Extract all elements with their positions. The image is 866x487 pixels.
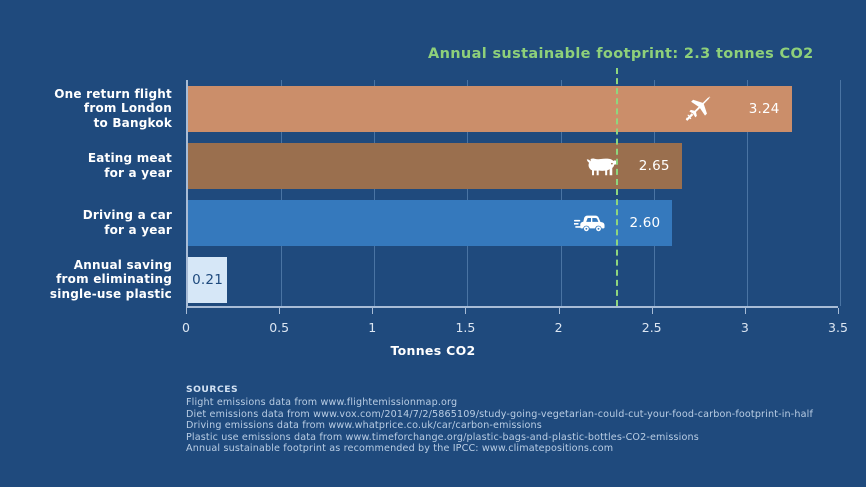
- x-axis-tick-label: 0: [182, 320, 190, 335]
- y-axis-category-label: Annual saving from eliminating single-us…: [50, 257, 172, 303]
- y-axis-category-label: Driving a car for a year: [83, 200, 172, 246]
- bar-value-label: 0.21: [188, 272, 227, 288]
- source-line: Annual sustainable footprint as recommen…: [186, 443, 813, 455]
- x-axis-tick: [279, 308, 280, 314]
- bar-value-label: 3.24: [749, 101, 780, 117]
- x-axis-tick: [186, 308, 187, 314]
- source-line: Plastic use emissions data from www.time…: [186, 432, 813, 444]
- x-axis-title: Tonnes CO2: [0, 343, 866, 358]
- bar-value-label: 2.65: [639, 158, 670, 174]
- bar[interactable]: 2.65: [188, 143, 682, 189]
- cow-icon: [586, 153, 620, 179]
- plot-inner: 3.242.652.600.21: [188, 80, 838, 306]
- plot-area: 3.242.652.600.21: [186, 80, 838, 308]
- x-axis-tick: [652, 308, 653, 314]
- bar-row: 2.60: [188, 200, 838, 246]
- bar-row: 0.21: [188, 257, 838, 303]
- x-axis-tick: [465, 308, 466, 314]
- sustainable-threshold-line: [616, 68, 618, 306]
- source-line: Flight emissions data from www.flightemi…: [186, 397, 813, 409]
- sources-lines: Flight emissions data from www.flightemi…: [186, 397, 813, 455]
- bar-row: 3.24: [188, 86, 838, 132]
- airplane-icon: [684, 94, 714, 124]
- x-axis-tick: [745, 308, 746, 314]
- y-axis-category-label: Eating meat for a year: [88, 143, 172, 189]
- x-axis-tick-label: 0.5: [269, 320, 289, 335]
- sources-heading: SOURCES: [186, 384, 813, 396]
- source-line: Driving emissions data from www.whatpric…: [186, 420, 813, 432]
- x-axis-tick: [838, 308, 839, 314]
- x-axis-tick-label: 2: [555, 320, 563, 335]
- y-axis-category-label: One return flight from London to Bangkok: [54, 86, 172, 132]
- x-axis-tick-label: 1: [368, 320, 376, 335]
- bar[interactable]: 2.60: [188, 200, 672, 246]
- chart-figure: Annual sustainable footprint: 2.3 tonnes…: [0, 0, 866, 487]
- x-axis-tick: [559, 308, 560, 314]
- x-axis-tick-label: 1.5: [455, 320, 475, 335]
- chart-title: Annual sustainable footprint: 2.3 tonnes…: [428, 46, 814, 62]
- bar-row: 2.65: [188, 143, 838, 189]
- sources-block: SOURCES Flight emissions data from www.f…: [186, 384, 813, 455]
- gridline: [840, 80, 841, 306]
- x-axis-tick-label: 2.5: [642, 320, 662, 335]
- source-line: Diet emissions data from www.vox.com/201…: [186, 409, 813, 421]
- x-axis-tick: [372, 308, 373, 314]
- car-icon: [574, 211, 610, 235]
- x-axis-tick-label: 3: [741, 320, 749, 335]
- bar-value-label: 2.60: [629, 215, 660, 231]
- x-axis-tick-label: 3.5: [828, 320, 848, 335]
- bar[interactable]: 3.24: [188, 86, 792, 132]
- bar[interactable]: 0.21: [188, 257, 227, 303]
